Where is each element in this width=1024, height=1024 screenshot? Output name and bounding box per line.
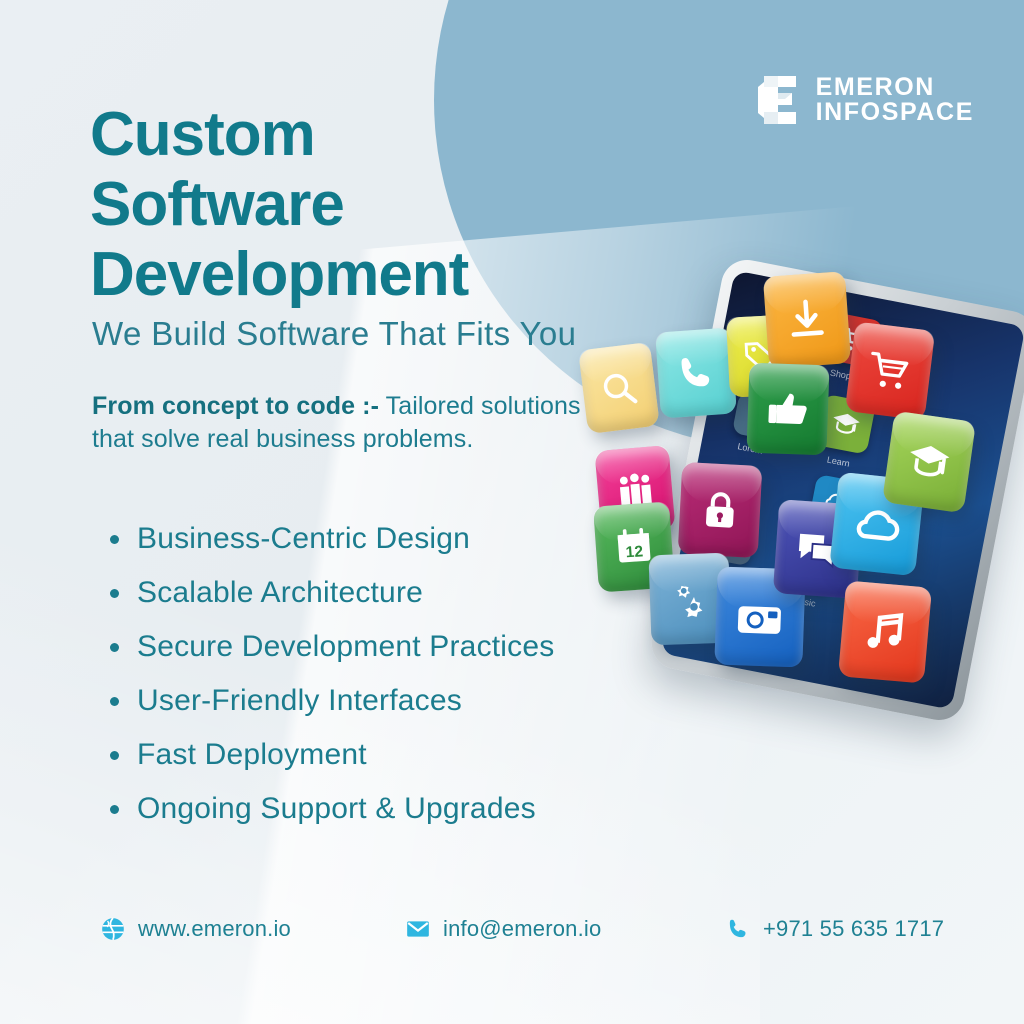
poster-canvas: EMERON INFOSPACE Custom Software Develop… bbox=[0, 0, 1024, 1024]
list-item: Scalable Architecture bbox=[110, 566, 554, 620]
lede-paragraph: From concept to code :- Tailored solutio… bbox=[92, 390, 582, 456]
bullet-dot-icon bbox=[110, 697, 119, 706]
hero-artwork: Shopping Lorem Learn bbox=[588, 268, 1024, 738]
list-item-label: Business-Centric Design bbox=[137, 522, 470, 556]
contact-email[interactable]: info@emeron.io bbox=[405, 916, 601, 942]
headline-line-3: Development bbox=[90, 240, 650, 310]
subheadline: We Build Software That Fits You bbox=[92, 315, 576, 353]
phone-icon bbox=[672, 347, 719, 400]
lock-icon bbox=[695, 482, 744, 538]
contact-website-label: www.emeron.io bbox=[138, 916, 291, 942]
list-item-label: Secure Development Practices bbox=[137, 630, 554, 664]
app-tile-cart bbox=[845, 321, 935, 420]
music-icon bbox=[858, 602, 913, 662]
lede-bold-lead: From concept to code :- bbox=[92, 392, 379, 420]
list-item-label: Ongoing Support & Upgrades bbox=[137, 792, 536, 826]
screen-tile-label: Learn bbox=[812, 452, 865, 472]
envelope-icon bbox=[405, 916, 431, 942]
list-item-label: User-Friendly Interfaces bbox=[137, 684, 462, 718]
logo-line-1: EMERON bbox=[816, 75, 974, 100]
contact-bar: www.emeron.io info@emeron.io +971 55 635… bbox=[100, 912, 930, 954]
bullet-dot-icon bbox=[110, 643, 119, 652]
emeron-e-mark-icon bbox=[758, 74, 802, 126]
list-item: Fast Deployment bbox=[110, 728, 554, 782]
contact-email-label: info@emeron.io bbox=[443, 916, 601, 942]
app-tile-lock bbox=[678, 462, 763, 558]
headline-line-1: Custom bbox=[90, 100, 650, 170]
headline-line-2: Software bbox=[90, 170, 650, 240]
list-item: Ongoing Support & Upgrades bbox=[110, 782, 554, 836]
bullet-dot-icon bbox=[110, 805, 119, 814]
list-item: Business-Centric Design bbox=[110, 512, 554, 566]
download-icon bbox=[781, 292, 832, 349]
gears-icon bbox=[666, 572, 714, 626]
list-item: User-Friendly Interfaces bbox=[110, 674, 554, 728]
feature-list: Business-Centric Design Scalable Archite… bbox=[110, 512, 554, 836]
thumbs-up-icon bbox=[764, 382, 812, 436]
app-tile-search bbox=[578, 342, 660, 434]
app-tile-download bbox=[763, 271, 851, 368]
search-icon bbox=[595, 361, 642, 414]
camera-icon bbox=[734, 588, 787, 647]
bullet-dot-icon bbox=[110, 589, 119, 598]
list-item-label: Scalable Architecture bbox=[137, 576, 423, 610]
logo-line-2: INFOSPACE bbox=[816, 100, 974, 125]
app-tile-graduation bbox=[882, 411, 976, 514]
phone-icon bbox=[725, 916, 751, 942]
list-item-label: Fast Deployment bbox=[137, 738, 367, 772]
cart-icon bbox=[864, 342, 916, 399]
contact-website[interactable]: www.emeron.io bbox=[100, 916, 291, 942]
svg-text:12: 12 bbox=[625, 543, 644, 561]
app-tile-thumbs-up bbox=[746, 363, 829, 456]
page-title: Custom Software Development bbox=[90, 100, 650, 310]
bullet-dot-icon bbox=[110, 535, 119, 544]
globe-icon bbox=[100, 916, 126, 942]
bullet-dot-icon bbox=[110, 751, 119, 760]
list-item: Secure Development Practices bbox=[110, 620, 554, 674]
brand-logo: EMERON INFOSPACE bbox=[758, 74, 974, 126]
app-tile-music bbox=[838, 580, 932, 683]
graduation-icon bbox=[902, 432, 957, 491]
app-tile-phone bbox=[655, 327, 737, 418]
contact-phone[interactable]: +971 55 635 1717 bbox=[725, 916, 944, 942]
contact-phone-label: +971 55 635 1717 bbox=[763, 916, 944, 942]
